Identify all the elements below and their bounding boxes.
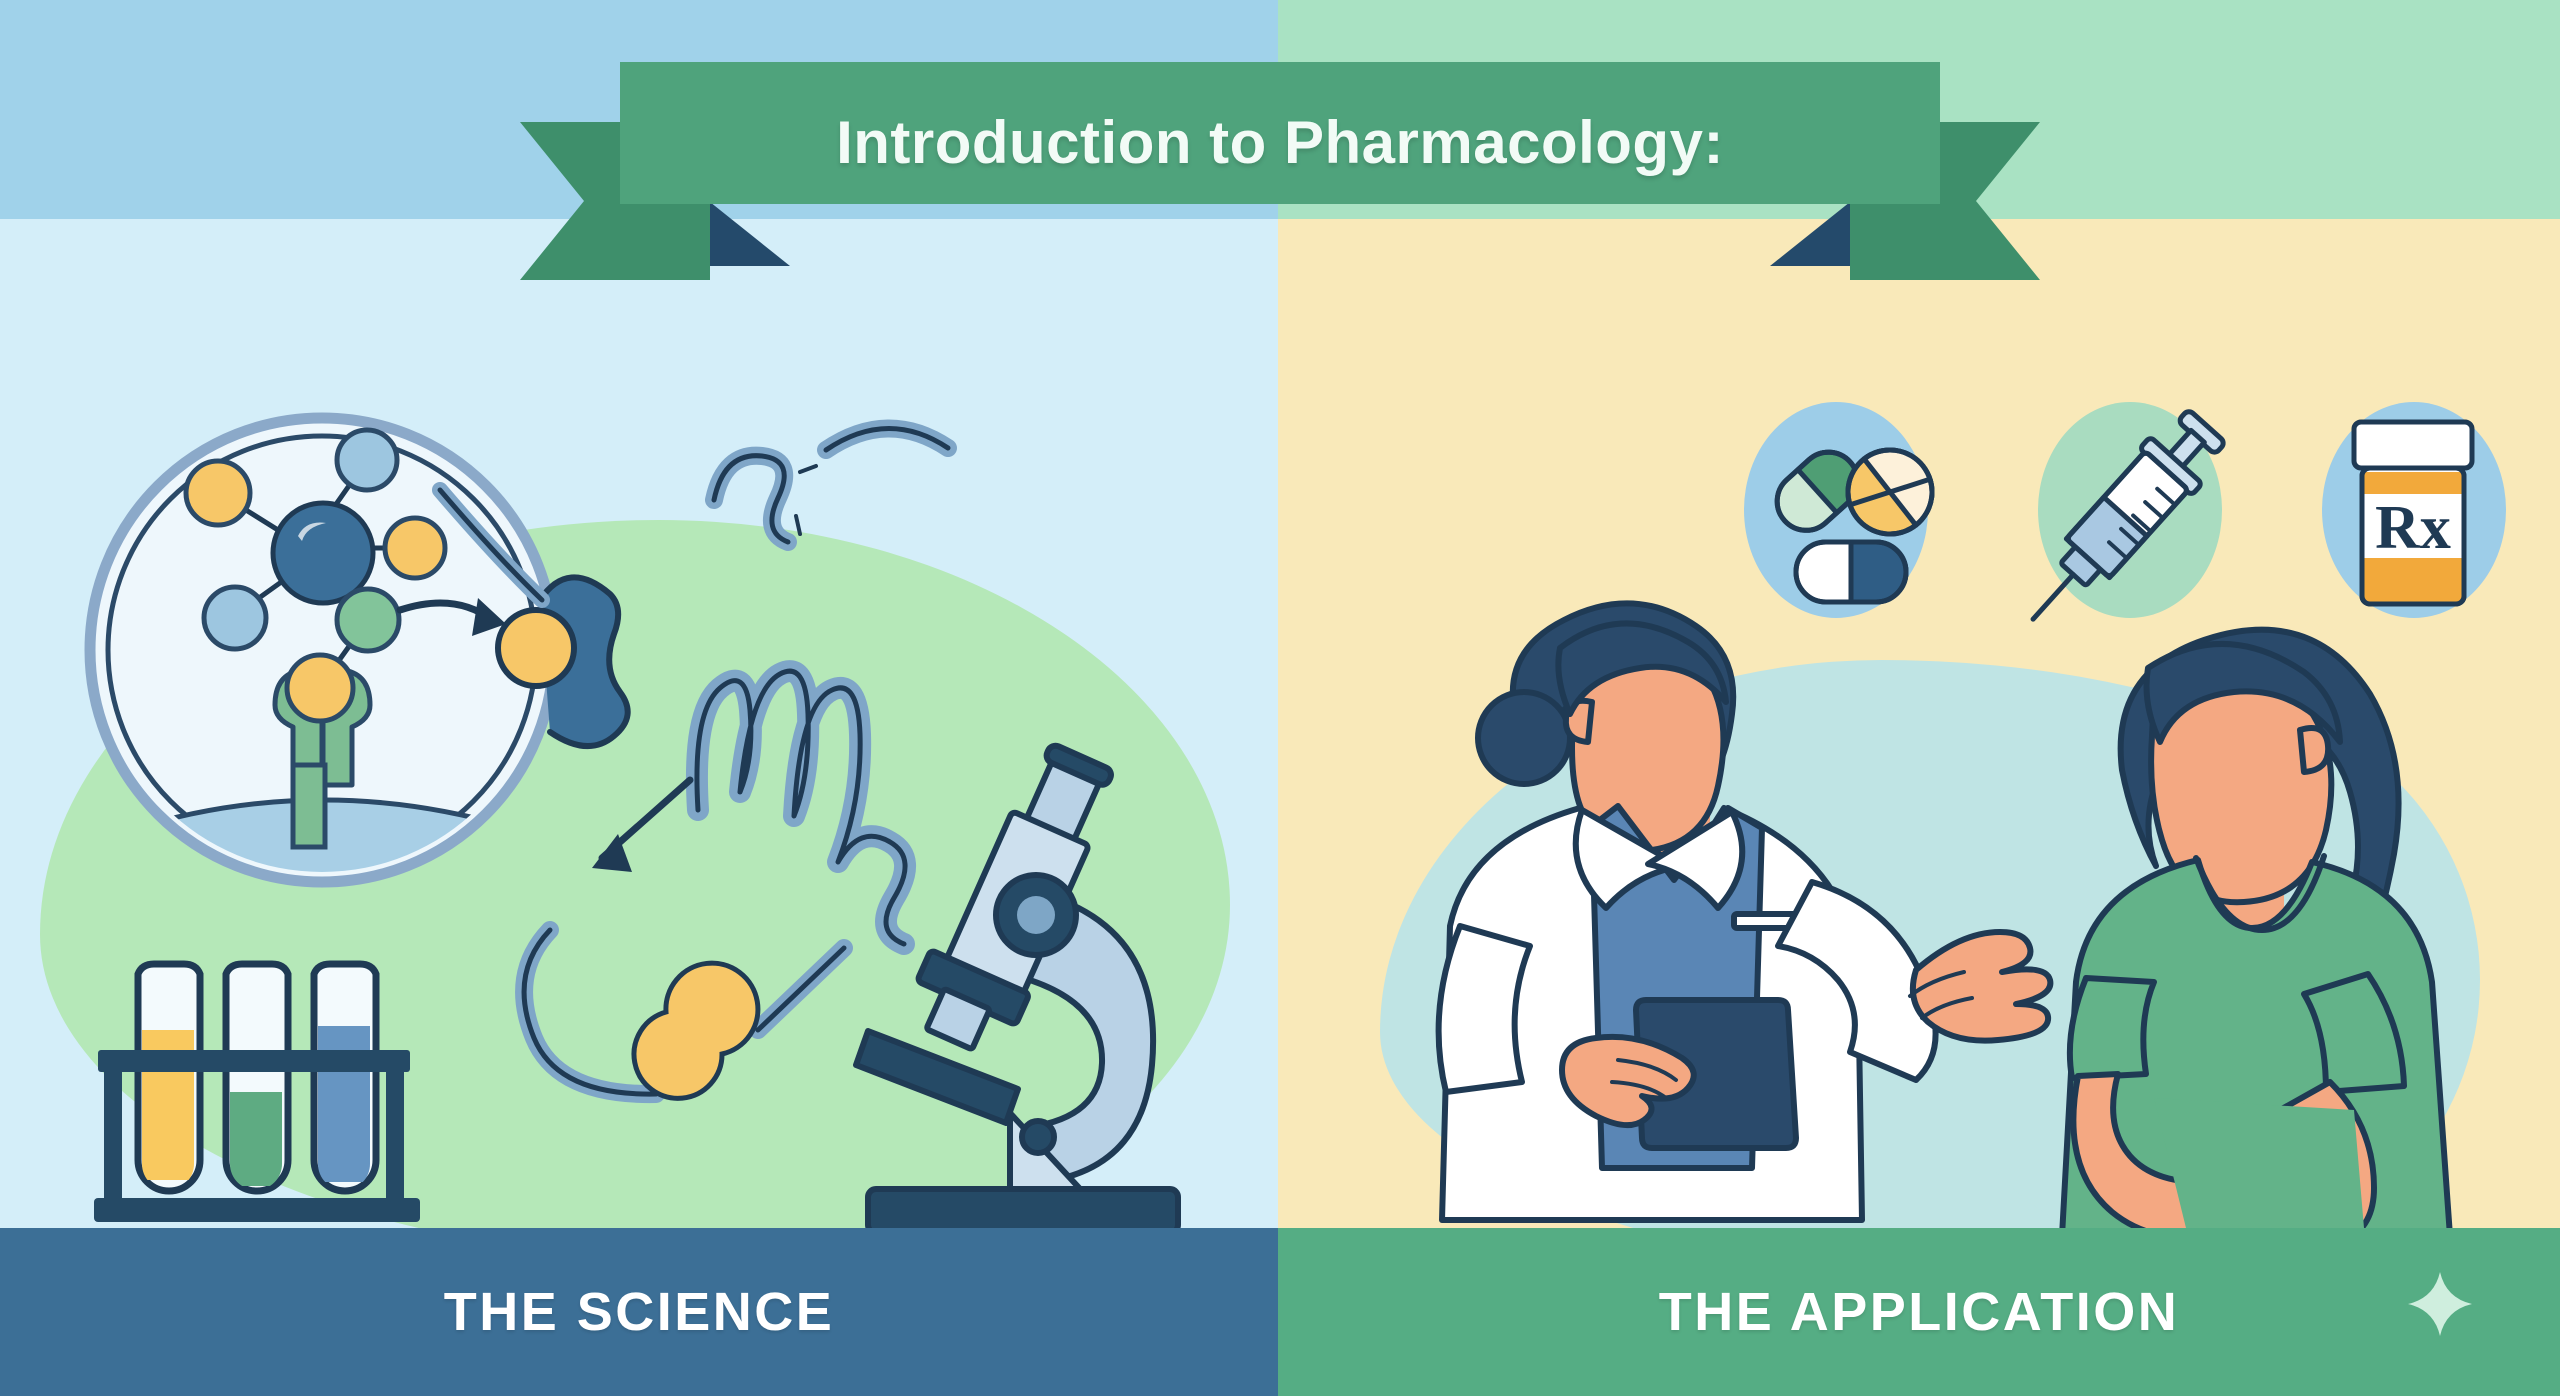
patient-figure: [2050, 620, 2480, 1240]
sparkle-icon: [2408, 1272, 2472, 1336]
footer-left-science: THE SCIENCE: [0, 1228, 1278, 1396]
microscope: [850, 745, 1210, 1245]
syringe-icon: [2007, 402, 2233, 643]
rx-pill-bottle-icon: Rx: [2322, 402, 2506, 618]
rx-label: Rx: [2375, 494, 2451, 562]
pharmacology-infographic: Rx: [0, 0, 2560, 1396]
footer-right-application: THE APPLICATION: [1278, 1228, 2560, 1396]
doctor-figure: [1420, 590, 2040, 1250]
title-ribbon: Introduction to Pharmacology:: [520, 62, 2040, 222]
page-title: Introduction to Pharmacology:: [520, 62, 2040, 222]
test-tube-rack: [80, 960, 440, 1235]
footer-right-label: THE APPLICATION: [1659, 1281, 2180, 1343]
footer-left-label: THE SCIENCE: [444, 1281, 835, 1343]
pills-capsules-icon: [1744, 402, 1949, 618]
